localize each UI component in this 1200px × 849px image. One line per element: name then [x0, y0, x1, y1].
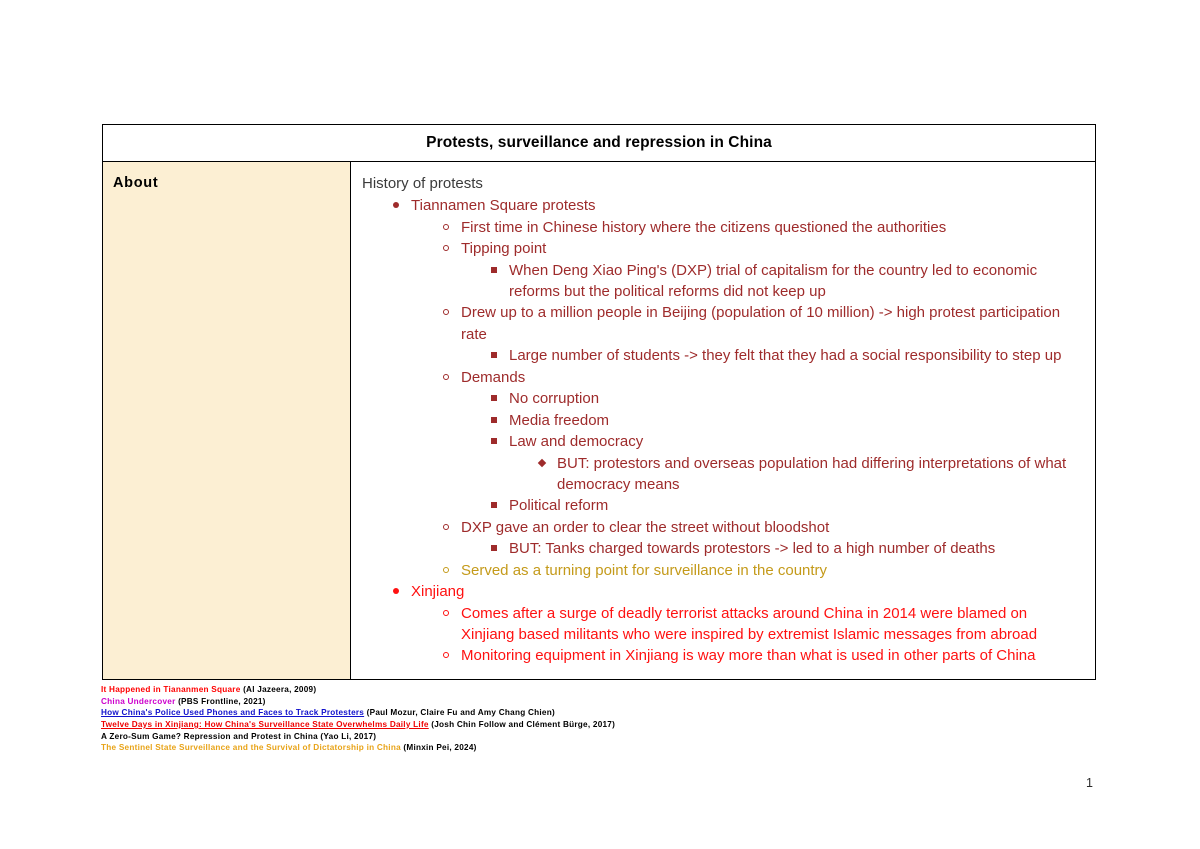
citation-list: It Happened in Tiananmen Square (Al Jaze…	[101, 684, 1101, 754]
citation-source: (Yao Li, 2017)	[320, 732, 376, 741]
outline-row: First time in Chinese history where the …	[441, 217, 1083, 238]
outline-item-text: Media freedom	[489, 410, 1083, 431]
bullet-glyph	[393, 202, 399, 208]
outline-item-monitoring-equipment: Monitoring equipment in Xinjiang is way …	[391, 645, 1083, 666]
table-row-title: Protests, surveillance and repression in…	[103, 125, 1096, 162]
outline-row: Media freedom	[489, 410, 1083, 431]
outline-row: Served as a turning point for surveillan…	[441, 560, 1083, 581]
outline-item-law-democracy: Law and democracyBUT: protestors and ove…	[441, 431, 1083, 495]
outline-item-text: Comes after a surge of deadly terrorist …	[441, 603, 1083, 646]
citation-source: (PBS Frontline, 2021)	[178, 697, 266, 706]
outline-item-but-democracy: BUT: protestors and overseas population …	[489, 453, 1083, 496]
bullet-glyph	[491, 395, 497, 401]
bullet-circle-icon	[441, 603, 461, 624]
outline-row: DXP gave an order to clear the street wi…	[441, 517, 1083, 538]
outline-item-dxp-capitalism: When Deng Xiao Ping's (DXP) trial of cap…	[441, 260, 1083, 303]
outline-item-text: First time in Chinese history where the …	[441, 217, 1083, 238]
outline-item-text: When Deng Xiao Ping's (DXP) trial of cap…	[489, 260, 1083, 303]
outline-item-terror-attacks: Comes after a surge of deadly terrorist …	[391, 603, 1083, 646]
bullet-glyph	[443, 652, 449, 658]
outline-item-text: Drew up to a million people in Beijing (…	[441, 302, 1083, 345]
outline-item-text: Xinjiang	[391, 581, 1083, 602]
outline-item-media-freedom: Media freedom	[441, 410, 1083, 431]
outline-item-text: Monitoring equipment in Xinjiang is way …	[441, 645, 1083, 666]
bullet-glyph	[393, 588, 399, 594]
citation-title: The Sentinel State Surveillance and the …	[101, 743, 401, 752]
outline-item-demands: DemandsNo corruptionMedia freedomLaw and…	[391, 367, 1083, 517]
page-number: 1	[1086, 776, 1093, 790]
citation-twelve-days-xinjiang[interactable]: Twelve Days in Xinjiang: How China's Sur…	[101, 719, 1101, 731]
outline-item-text: Demands	[441, 367, 1083, 388]
about-content-cell: History of protests Tiannamen Square pro…	[351, 162, 1096, 680]
title-cell: Protests, surveillance and repression in…	[103, 125, 1096, 162]
outline-item-text: Political reform	[489, 495, 1083, 516]
outline-item-text: DXP gave an order to clear the street wi…	[441, 517, 1083, 538]
outline-item-turning-point: Served as a turning point for surveillan…	[391, 560, 1083, 581]
bullet-circle-icon	[441, 367, 461, 388]
citation-source: (Al Jazeera, 2009)	[243, 685, 316, 694]
outline-item-text: BUT: protestors and overseas population …	[537, 453, 1083, 496]
bullet-glyph	[491, 502, 497, 508]
bullet-square-icon	[489, 260, 509, 281]
citation-title: It Happened in Tiananmen Square	[101, 685, 241, 694]
bullet-circle-icon	[441, 517, 461, 538]
bullet-square-icon	[489, 410, 509, 431]
outline-item-tipping-point: Tipping pointWhen Deng Xiao Ping's (DXP)…	[391, 238, 1083, 302]
about-label-cell: About	[103, 162, 351, 680]
citation-sentinel-state: The Sentinel State Surveillance and the …	[101, 742, 1101, 754]
bullet-disc-icon	[391, 581, 411, 602]
bullet-square-icon	[489, 388, 509, 409]
outline-item-political-reform: Political reform	[441, 495, 1083, 516]
bullet-square-icon	[489, 431, 509, 452]
lead-heading: History of protests	[359, 173, 1083, 194]
outline-row: Monitoring equipment in Xinjiang is way …	[441, 645, 1083, 666]
outline-row: Demands	[441, 367, 1083, 388]
bullet-circle-icon	[441, 302, 461, 323]
bullet-glyph	[491, 267, 497, 273]
citation-police-phones-faces[interactable]: How China's Police Used Phones and Faces…	[101, 707, 1101, 719]
outline-item-text: BUT: Tanks charged towards protestors ->…	[489, 538, 1083, 559]
citation-title[interactable]: Twelve Days in Xinjiang: How China's Sur…	[101, 720, 429, 729]
outline-item-text: Law and democracy	[489, 431, 1083, 452]
outline-item-tiananmen: Tiannamen Square protestsFirst time in C…	[359, 195, 1083, 581]
outline-row: Tiannamen Square protests	[391, 195, 1083, 216]
bullet-glyph	[443, 524, 449, 530]
outline-row: Law and democracy	[489, 431, 1083, 452]
outline-row: BUT: protestors and overseas population …	[537, 453, 1083, 496]
outline-item-text: No corruption	[489, 388, 1083, 409]
citation-zero-sum-game: A Zero-Sum Game? Repression and Protest …	[101, 731, 1101, 743]
bullet-glyph	[443, 309, 449, 315]
citation-al-jazeera: It Happened in Tiananmen Square (Al Jaze…	[101, 684, 1101, 696]
bullet-glyph	[491, 417, 497, 423]
bullet-glyph	[443, 567, 449, 573]
citation-source: (Josh Chin Follow and Clément Bürge, 201…	[431, 720, 615, 729]
bullet-disc-icon	[391, 195, 411, 216]
page-title: Protests, surveillance and repression in…	[426, 134, 772, 151]
outline-item-dxp-order: DXP gave an order to clear the street wi…	[391, 517, 1083, 560]
outline-item-text: Tipping point	[441, 238, 1083, 259]
bullet-circle-icon	[441, 560, 461, 581]
citation-title: A Zero-Sum Game? Repression and Protest …	[101, 732, 318, 741]
citation-title[interactable]: How China's Police Used Phones and Faces…	[101, 708, 364, 717]
outline-row: Drew up to a million people in Beijing (…	[441, 302, 1083, 345]
bullet-glyph	[443, 224, 449, 230]
table-row-about: About History of protests Tiannamen Squa…	[103, 162, 1096, 680]
outline-row: Tipping point	[441, 238, 1083, 259]
bullet-glyph	[491, 438, 497, 444]
outline-row: Xinjiang	[391, 581, 1083, 602]
outline-item-text: Large number of students -> they felt th…	[489, 345, 1083, 366]
citation-source: (Paul Mozur, Claire Fu and Amy Chang Chi…	[367, 708, 555, 717]
outline-item-but-tanks: BUT: Tanks charged towards protestors ->…	[441, 538, 1083, 559]
outline-row: When Deng Xiao Ping's (DXP) trial of cap…	[489, 260, 1083, 303]
bullet-square-icon	[489, 495, 509, 516]
outline-row: Political reform	[489, 495, 1083, 516]
content-table: Protests, surveillance and repression in…	[102, 124, 1096, 680]
outline-item-text: Tiannamen Square protests	[391, 195, 1083, 216]
outline-item-xinjiang: XinjiangComes after a surge of deadly te…	[359, 581, 1083, 667]
bullet-circle-icon	[441, 217, 461, 238]
bullet-glyph	[443, 374, 449, 380]
outline-item-text: Served as a turning point for surveillan…	[441, 560, 1083, 581]
outline-row: Large number of students -> they felt th…	[489, 345, 1083, 366]
outline-row: No corruption	[489, 388, 1083, 409]
row-label-about: About	[113, 175, 158, 191]
bullet-square-icon	[489, 345, 509, 366]
bullet-glyph	[443, 245, 449, 251]
outline-row: BUT: Tanks charged towards protestors ->…	[489, 538, 1083, 559]
bullet-glyph	[491, 545, 497, 551]
bullet-square-icon	[489, 538, 509, 559]
outline-item-no-corruption: No corruption	[441, 388, 1083, 409]
outline-row: Comes after a surge of deadly terrorist …	[441, 603, 1083, 646]
citation-china-undercover: China Undercover (PBS Frontline, 2021)	[101, 696, 1101, 708]
outline-item-students: Large number of students -> they felt th…	[441, 345, 1083, 366]
outline-item-first-time: First time in Chinese history where the …	[391, 217, 1083, 238]
bullet-glyph	[443, 610, 449, 616]
citation-source: (Minxin Pei, 2024)	[403, 743, 476, 752]
outline-item-million-people: Drew up to a million people in Beijing (…	[391, 302, 1083, 366]
citation-title: China Undercover	[101, 697, 176, 706]
bullet-circle-icon	[441, 645, 461, 666]
bullet-diamond-icon	[537, 453, 557, 474]
document-page: Protests, surveillance and repression in…	[0, 0, 1200, 849]
bullet-circle-icon	[441, 238, 461, 259]
bullet-glyph	[538, 458, 546, 466]
bullet-glyph	[491, 352, 497, 358]
outline-list: Tiannamen Square protestsFirst time in C…	[359, 195, 1083, 667]
